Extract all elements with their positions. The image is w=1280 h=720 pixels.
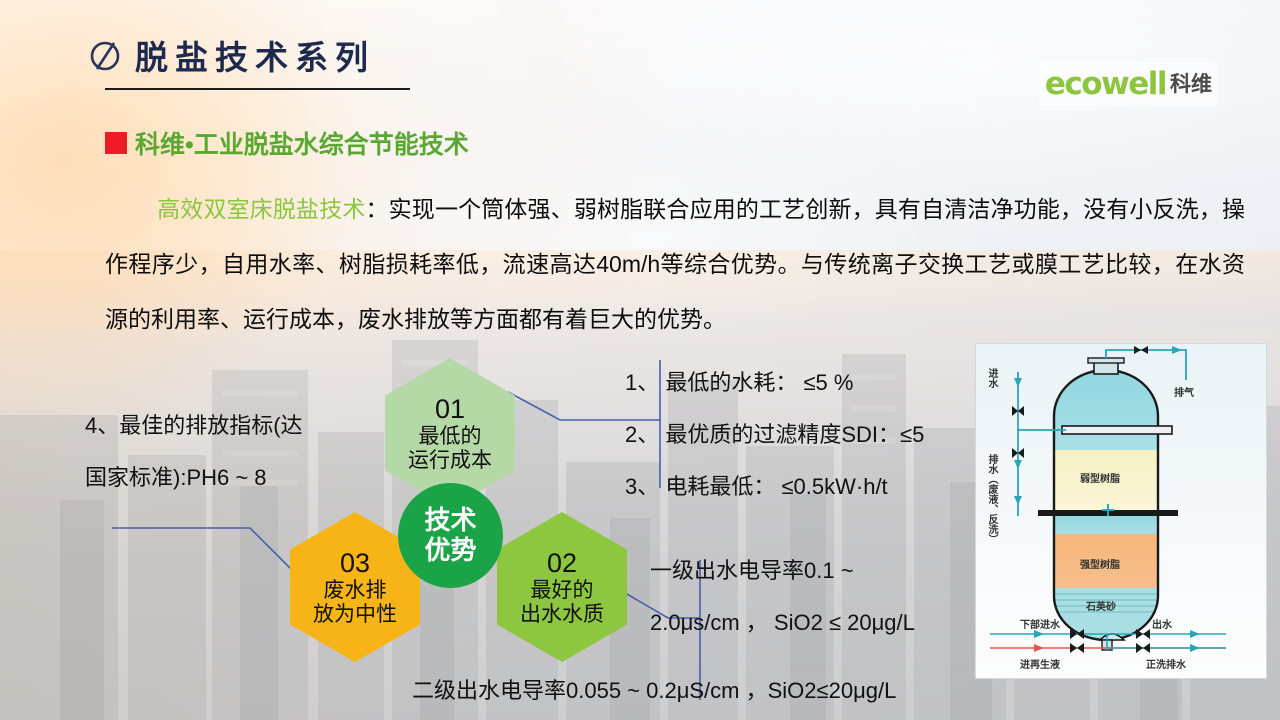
core-line2: 优势 [424, 536, 476, 566]
vessel-diagram-panel: 进水 排水（废液、反洗） 排气 弱型树脂 强型树脂 石英砂 下部进水 出水 进再… [975, 343, 1267, 679]
left-callout-line2: 国家标准):PH6 ~ 8 [85, 452, 303, 504]
diagram-label-regen: 进再生液 [1020, 656, 1060, 671]
connector-hex03 [112, 528, 300, 578]
diagram-label-drain: 排水（废液、反洗） [984, 454, 999, 544]
hexagon-01-number: 01 [435, 394, 465, 424]
diagram-label-strong-resin: 强型树脂 [1080, 556, 1120, 571]
diagram-label-bottom-inlet: 下部进水 [1020, 616, 1060, 631]
hexagon-01-line1: 最低的 [419, 425, 482, 449]
middle-callout: 一级出水电导率0.1 ~ 2.0μs/cm ， SiO2 ≤ 20μg/L [650, 545, 915, 649]
center-circle-core[interactable]: 技术 优势 [398, 483, 503, 588]
diagram-label-outlet: 出水 [1152, 616, 1172, 631]
hexagon-02-line2: 出水水质 [520, 603, 604, 627]
middle-callout-line1: 一级出水电导率0.1 ~ [650, 545, 915, 597]
diagram-label-vent: 排气 [1174, 384, 1194, 399]
middle-callout-line2: 2.0μs/cm ， SiO2 ≤ 20μg/L [650, 597, 915, 649]
hexagon-02-number: 02 [547, 548, 577, 578]
hexagon-01-line2: 运行成本 [408, 449, 492, 473]
right-list-item-2: 2、 最优质的过滤精度SDI：≤5 [625, 409, 924, 461]
right-list-item-3: 3、 电耗最低： ≤0.5kW·h/t [625, 461, 924, 513]
right-bullet-list: 1、 最低的水耗： ≤5 % 2、 最优质的过滤精度SDI：≤5 3、 电耗最低… [625, 357, 924, 513]
diagram-label-weak-resin: 弱型树脂 [1080, 470, 1120, 485]
right-list-item-1: 1、 最低的水耗： ≤5 % [625, 357, 924, 409]
bottom-callout: 二级出水电导率0.055 ~ 0.2μS/cm ，SiO2≤20μg/L [412, 665, 896, 717]
diagram-label-inlet: 进水 [984, 368, 999, 388]
hexagon-03-number: 03 [340, 548, 370, 578]
hexagon-03-line1: 废水排 [324, 579, 387, 603]
left-callout-line1: 4、最佳的排放指标(达 [85, 400, 303, 452]
diagram-label-quartz-sand: 石英砂 [1086, 598, 1116, 613]
hexagon-03-line2: 放为中性 [313, 603, 397, 627]
hexagon-02-line1: 最好的 [531, 579, 594, 603]
left-callout: 4、最佳的排放指标(达 国家标准):PH6 ~ 8 [85, 400, 303, 504]
diagram-label-rinse-drain: 正洗排水 [1146, 656, 1186, 671]
core-line1: 技术 [424, 506, 476, 536]
